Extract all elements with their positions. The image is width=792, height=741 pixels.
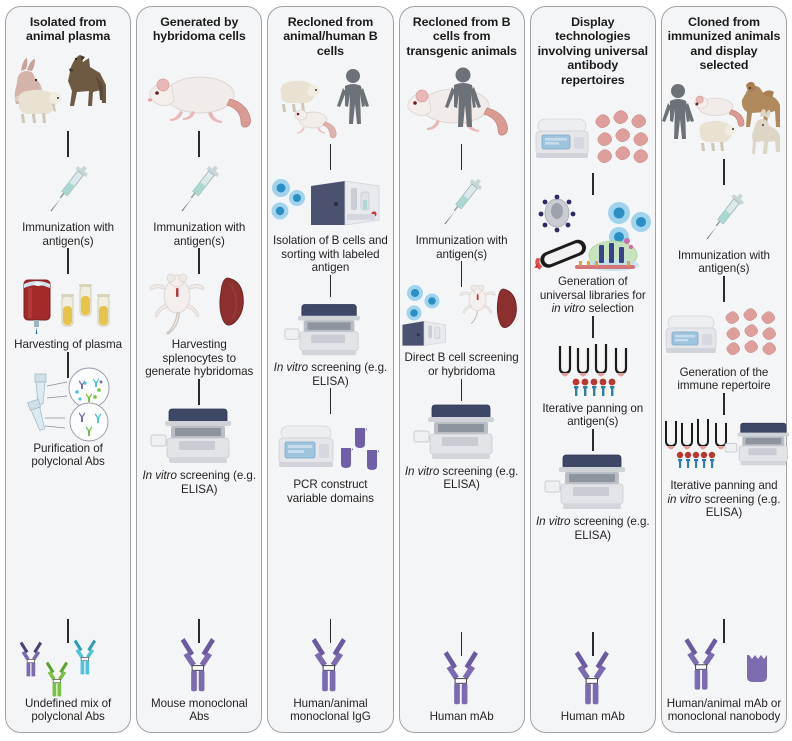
step-caption: Immunization with antigen(s) bbox=[404, 234, 520, 261]
elisa-reader-icon bbox=[535, 451, 651, 513]
elisa-reader-icon bbox=[272, 297, 388, 359]
step-caption: Isolation of B cells and sorting with la… bbox=[272, 234, 388, 275]
step-in-vitro-screening: In vitro screening (e.g. ELISA) bbox=[141, 405, 257, 496]
column-recloned-from-animal-human-b-cells: Recloned from animal/human B cells bbox=[267, 6, 393, 733]
polyclonal-antibodies-icon bbox=[10, 643, 126, 695]
step-caption: In vitro screening (e.g. ELISA) bbox=[272, 361, 388, 388]
step-immunization: Immunization with antigen(s) bbox=[141, 157, 257, 248]
syringe-icon bbox=[141, 157, 257, 219]
flow-connector bbox=[67, 248, 69, 274]
flow-connector bbox=[461, 144, 463, 170]
step-in-vitro-screening: In vitro screening (e.g. ELISA) bbox=[404, 401, 520, 492]
step-in-vitro-screening: In vitro screening (e.g. ELISA) bbox=[535, 451, 651, 542]
step-caption: Immunization with antigen(s) bbox=[10, 221, 126, 248]
column-title: Display technologies involving universal… bbox=[535, 13, 651, 87]
flow-connector bbox=[592, 316, 594, 338]
elisa-reader-icon bbox=[141, 405, 257, 467]
panning-tubes-icon bbox=[535, 338, 651, 400]
step-isolation-sorting: Isolation of B cells and sorting with la… bbox=[272, 170, 388, 275]
monoclonal-antibody-icon bbox=[404, 656, 520, 708]
elisa-reader-icon bbox=[404, 401, 520, 463]
step-iterative-panning-and-screening: Iterative panning and in vitro screening… bbox=[666, 415, 782, 520]
step-direct-b-cell-screening: Direct B cell screening or hybridoma bbox=[404, 287, 520, 378]
product-caption: Human/animal monoclonal IgG bbox=[272, 697, 388, 724]
caption-italic: In vitro bbox=[405, 465, 439, 478]
antibody-technologies-diagram: Isolated from animal plasma bbox=[0, 0, 792, 741]
step-caption: In vitro screening (e.g. ELISA) bbox=[141, 469, 257, 496]
product-polyclonal: Undefined mix of polyclonal Abs bbox=[10, 643, 126, 724]
step-caption: Generation of the immune repertoire bbox=[666, 366, 782, 393]
step-harvesting-splenocytes: Harvesting splenocytes to generate hybri… bbox=[141, 274, 257, 379]
flow-connector bbox=[723, 159, 725, 185]
step-caption: Immunization with antigen(s) bbox=[141, 221, 257, 248]
organisms-human-mouse-camel-sheep-llama-icon bbox=[666, 73, 782, 159]
flow-connector bbox=[592, 173, 594, 195]
flow-connector bbox=[67, 131, 69, 157]
monoclonal-antibody-icon bbox=[535, 656, 651, 708]
step-caption: Iterative panning and in vitro screening… bbox=[666, 479, 782, 520]
b-cells-sorter-mouse-spleen-icon bbox=[404, 287, 520, 349]
caption-italic: In vitro bbox=[536, 515, 570, 528]
step-caption: Generation of universal libraries for in… bbox=[535, 275, 651, 316]
product-caption: Human mAb bbox=[430, 710, 494, 724]
caption-rest: screening (e.g. ELISA) bbox=[439, 465, 518, 492]
syringe-icon bbox=[404, 170, 520, 232]
flow-connector bbox=[723, 276, 725, 302]
product-caption: Mouse monoclonal Abs bbox=[141, 697, 257, 724]
column-display-technologies: Display technologies involving universal… bbox=[530, 6, 656, 733]
step-caption: PCR construct variable domains bbox=[272, 478, 388, 505]
product-monoclonal-igg: Human/animal monoclonal IgG bbox=[272, 643, 388, 724]
organisms-rabbit-horse-sheep-icon bbox=[10, 45, 126, 131]
step-in-vitro-screening: In vitro screening (e.g. ELISA) bbox=[272, 297, 388, 388]
caption-rest: selection bbox=[585, 302, 633, 315]
column-isolated-from-animal-plasma: Isolated from animal plasma bbox=[5, 6, 131, 733]
step-caption: In vitro screening (e.g. ELISA) bbox=[404, 465, 520, 492]
syringe-icon bbox=[666, 185, 782, 247]
pcr-thermocycler-icon bbox=[272, 414, 388, 476]
step-immunization: Immunization with antigen(s) bbox=[404, 170, 520, 261]
syringe-icon bbox=[10, 157, 126, 219]
step-caption: Iterative panning on antigen(s) bbox=[535, 402, 651, 429]
column-generated-by-hybridoma-cells: Generated by hybridoma cells bbox=[136, 6, 262, 733]
caption-lead: Generation of universal libraries for bbox=[540, 275, 646, 302]
thermocycler-and-tissue-icon bbox=[666, 302, 782, 364]
caption-rest: screening (e.g. ELISA) bbox=[308, 361, 387, 388]
step-immunization: Immunization with antigen(s) bbox=[10, 157, 126, 248]
step-caption: Harvesting of plasma bbox=[14, 338, 122, 352]
panning-and-elisa-icon bbox=[666, 415, 782, 477]
product-caption: Human/animal mAb or monoclonal nanobody bbox=[666, 697, 782, 724]
product-caption: Undefined mix of polyclonal Abs bbox=[10, 697, 126, 724]
caption-italic: in vitro bbox=[668, 493, 702, 506]
organisms-transgenic-mouse-human-icon bbox=[404, 58, 520, 144]
column-title: Generated by hybridoma cells bbox=[141, 13, 257, 45]
caption-rest: screening (e.g. ELISA) bbox=[177, 469, 256, 496]
purification-tube-icon bbox=[10, 378, 126, 440]
step-caption: Direct B cell screening or hybridoma bbox=[404, 351, 520, 378]
caption-lead: Iterative panning and bbox=[670, 479, 777, 492]
mouse-and-spleen-icon bbox=[141, 274, 257, 336]
product-caption: Human mAb bbox=[561, 710, 625, 724]
blood-bag-and-tubes-icon bbox=[10, 274, 126, 336]
step-caption: Purification of polyclonal Abs bbox=[10, 442, 126, 469]
column-cloned-from-immunized-animals: Cloned from immunized animals and displa… bbox=[661, 6, 787, 733]
step-caption: In vitro screening (e.g. ELISA) bbox=[535, 515, 651, 542]
flow-connector bbox=[198, 248, 200, 274]
flow-connector bbox=[198, 131, 200, 157]
caption-rest: screening (e.g. ELISA) bbox=[701, 493, 780, 520]
caption-italic: In vitro bbox=[274, 361, 308, 374]
column-title: Recloned from B cells from transgenic an… bbox=[404, 13, 520, 58]
step-caption: Harvesting splenocytes to generate hybri… bbox=[141, 338, 257, 379]
column-title: Recloned from animal/human B cells bbox=[272, 13, 388, 58]
monoclonal-antibody-and-nanobody-icon bbox=[666, 643, 782, 695]
caption-rest: screening (e.g. ELISA) bbox=[570, 515, 649, 542]
organisms-sheep-human-mouse-icon bbox=[272, 58, 388, 144]
column-title: Isolated from animal plasma bbox=[10, 13, 126, 45]
step-purification: Purification of polyclonal Abs bbox=[10, 378, 126, 469]
flow-connector bbox=[330, 144, 332, 170]
product-human-mab: Human mAb bbox=[404, 656, 520, 724]
monoclonal-antibody-icon bbox=[141, 643, 257, 695]
column-recloned-from-transgenic-animals: Recloned from B cells from transgenic an… bbox=[399, 6, 525, 733]
step-generation-immune-repertoire: Generation of the immune repertoire bbox=[666, 302, 782, 393]
step-immunization: Immunization with antigen(s) bbox=[666, 185, 782, 276]
organism-mouse-icon bbox=[141, 45, 257, 131]
product-human-mab: Human mAb bbox=[535, 656, 651, 724]
cell-sorter-icon bbox=[272, 170, 388, 232]
step-iterative-panning: Iterative panning on antigen(s) bbox=[535, 338, 651, 429]
step-generation-universal-libraries: Generation of universal libraries for in… bbox=[535, 195, 651, 316]
product-monoclonal: Mouse monoclonal Abs bbox=[141, 643, 257, 724]
flow-connector bbox=[330, 388, 332, 414]
step-harvesting-plasma: Harvesting of plasma bbox=[10, 274, 126, 352]
step-caption: Immunization with antigen(s) bbox=[666, 249, 782, 276]
phage-yeast-ribosome-display-icon bbox=[535, 195, 651, 273]
column-title: Cloned from immunized animals and displa… bbox=[666, 13, 782, 73]
flow-connector bbox=[330, 275, 332, 297]
caption-italic: In vitro bbox=[142, 469, 176, 482]
monoclonal-antibody-icon bbox=[272, 643, 388, 695]
product-mab-or-nanobody: Human/animal mAb or monoclonal nanobody bbox=[666, 643, 782, 724]
caption-italic: in vitro bbox=[552, 302, 586, 315]
step-pcr-construct: PCR construct variable domains bbox=[272, 414, 388, 505]
thermocycler-and-tissue-icon bbox=[535, 87, 651, 173]
